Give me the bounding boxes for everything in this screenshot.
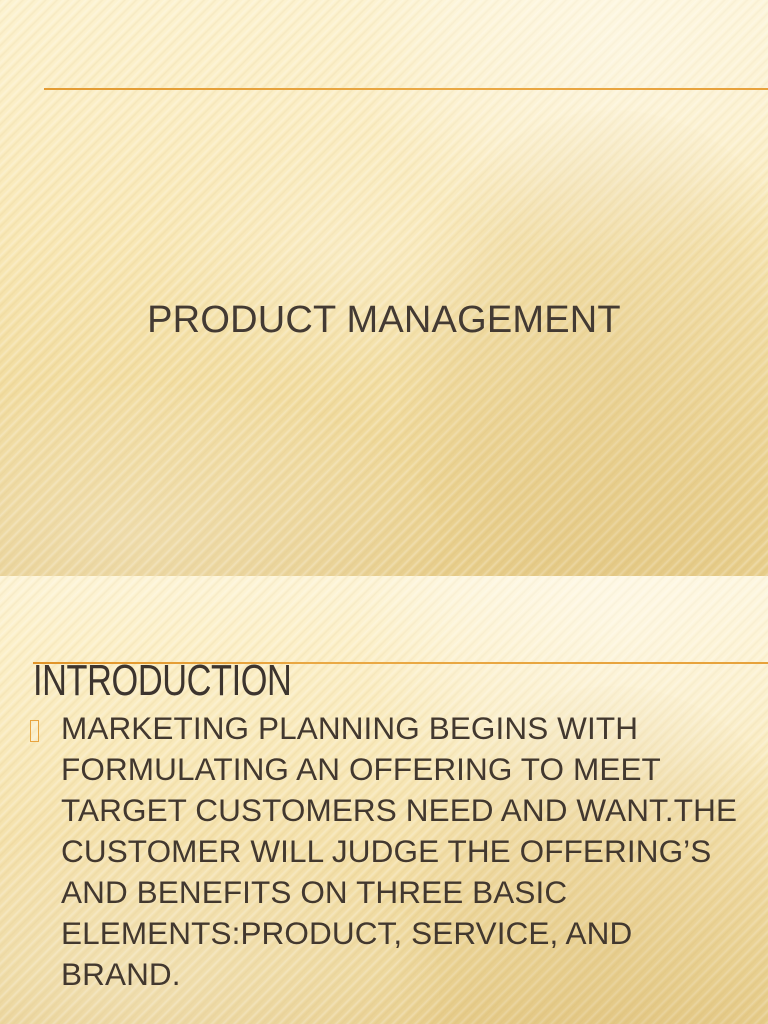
slide-deck: PRODUCT MANAGEMENT INTRODUCTION MARKETIN… <box>0 0 768 1024</box>
slide-introduction: INTRODUCTION MARKETING PLANNING BEGINS W… <box>0 576 768 1024</box>
slide-background-pinstripe-texture <box>0 0 768 576</box>
slide-title: PRODUCT MANAGEMENT <box>0 0 768 576</box>
section-heading-introduction: INTRODUCTION <box>33 659 291 703</box>
bullet-list: MARKETING PLANNING BEGINS WITH FORMULATI… <box>30 708 750 995</box>
list-item: MARKETING PLANNING BEGINS WITH FORMULATI… <box>30 708 750 995</box>
title-accent-rule <box>44 88 768 90</box>
section-heading-accent-rule <box>33 662 768 664</box>
bullet-item-text: MARKETING PLANNING BEGINS WITH FORMULATI… <box>61 708 750 995</box>
tofu-box-bullet-icon <box>30 720 39 742</box>
slide-title-text: PRODUCT MANAGEMENT <box>0 297 768 343</box>
